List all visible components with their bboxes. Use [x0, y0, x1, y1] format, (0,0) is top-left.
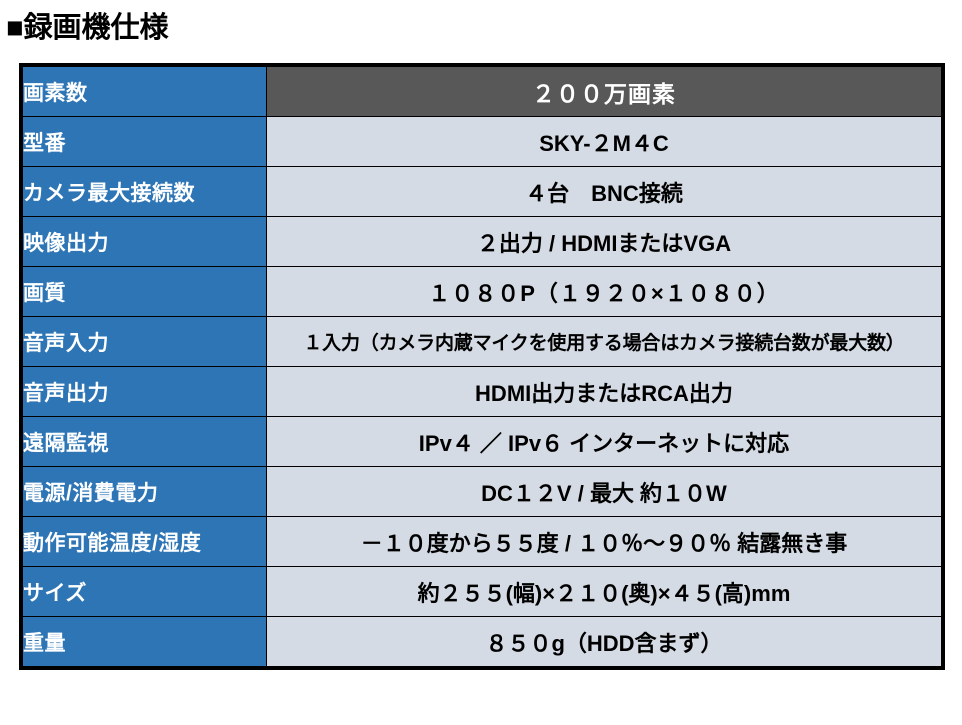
- spec-label-pixel-count: 画素数: [23, 67, 267, 117]
- table-row: 遠隔監視 IPv４ ／ IPv６ インターネットに対応: [23, 417, 942, 467]
- table-row: 重量 ８５０g（HDD含まず）: [23, 617, 942, 667]
- spec-table-body: 画素数 ２００万画素 型番 SKY-２M４C カメラ最大接続数 ４台 BNC接続…: [23, 67, 942, 667]
- spec-table: 画素数 ２００万画素 型番 SKY-２M４C カメラ最大接続数 ４台 BNC接続…: [22, 66, 942, 667]
- spec-label-model-number: 型番: [23, 117, 267, 167]
- table-row: 動作可能温度/湿度 －１０度から５５度 / １０％～９０％ 結露無き事: [23, 517, 942, 567]
- table-row: サイズ 約２５５(幅)×２１０(奥)×４５(高)mm: [23, 567, 942, 617]
- spec-label-audio-input: 音声入力: [23, 317, 267, 367]
- table-row: 型番 SKY-２M４C: [23, 117, 942, 167]
- spec-label-image-quality: 画質: [23, 267, 267, 317]
- spec-label-max-cameras: カメラ最大接続数: [23, 167, 267, 217]
- spec-table-container: 画素数 ２００万画素 型番 SKY-２M４C カメラ最大接続数 ４台 BNC接続…: [19, 63, 945, 670]
- spec-label-audio-output: 音声出力: [23, 367, 267, 417]
- spec-value-remote-monitoring: IPv４ ／ IPv６ インターネットに対応: [267, 417, 942, 467]
- spec-value-operating-temperature-humidity: －１０度から５５度 / １０％～９０％ 結露無き事: [267, 517, 942, 567]
- spec-label-video-output: 映像出力: [23, 217, 267, 267]
- table-row: 音声出力 HDMI出力またはRCA出力: [23, 367, 942, 417]
- table-row: 画素数 ２００万画素: [23, 67, 942, 117]
- spec-label-size: サイズ: [23, 567, 267, 617]
- spec-value-video-output: ２出力 / HDMIまたはVGA: [267, 217, 942, 267]
- spec-label-power-consumption: 電源/消費電力: [23, 467, 267, 517]
- table-row: カメラ最大接続数 ４台 BNC接続: [23, 167, 942, 217]
- spec-value-weight: ８５０g（HDD含まず）: [267, 617, 942, 667]
- spec-value-model-number: SKY-２M４C: [267, 117, 942, 167]
- table-row: 画質 １０８０P（１９２０×１０８０）: [23, 267, 942, 317]
- table-row: 映像出力 ２出力 / HDMIまたはVGA: [23, 217, 942, 267]
- table-row: 音声入力 １入力（カメラ内蔵マイクを使用する場合はカメラ接続台数が最大数）: [23, 317, 942, 367]
- spec-value-audio-input: １入力（カメラ内蔵マイクを使用する場合はカメラ接続台数が最大数）: [267, 317, 942, 367]
- spec-value-image-quality: １０８０P（１９２０×１０８０）: [267, 267, 942, 317]
- spec-value-audio-output: HDMI出力またはRCA出力: [267, 367, 942, 417]
- spec-value-pixel-count: ２００万画素: [267, 67, 942, 117]
- spec-value-power-consumption: DC１２V / 最大 約１０W: [267, 467, 942, 517]
- spec-label-operating-temperature-humidity: 動作可能温度/湿度: [23, 517, 267, 567]
- page-title: ■録画機仕様: [6, 10, 169, 46]
- spec-value-size: 約２５５(幅)×２１０(奥)×４５(高)mm: [267, 567, 942, 617]
- spec-label-remote-monitoring: 遠隔監視: [23, 417, 267, 467]
- spec-label-weight: 重量: [23, 617, 267, 667]
- spec-value-max-cameras: ４台 BNC接続: [267, 167, 942, 217]
- table-row: 電源/消費電力 DC１２V / 最大 約１０W: [23, 467, 942, 517]
